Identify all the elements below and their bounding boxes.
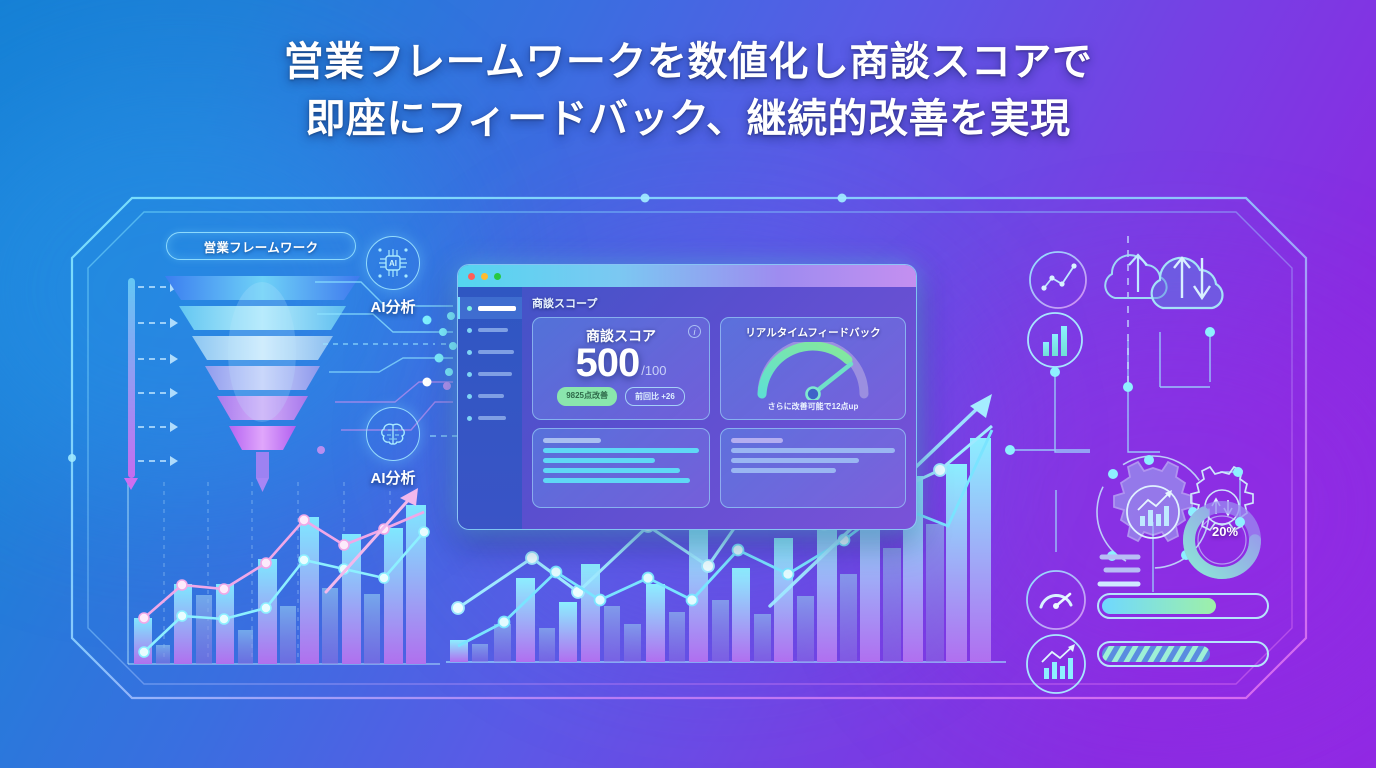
sidebar-bullet — [467, 306, 472, 311]
sidebar-label-bar — [478, 328, 508, 332]
ai-badge-chip: AI AI分析 — [350, 236, 436, 317]
brain-icon — [366, 407, 420, 461]
detail-card-2 — [720, 428, 906, 508]
score-badge-primary: 9825点改善 — [557, 387, 617, 406]
funnel-title-pill: 営業フレームワーク — [166, 232, 356, 260]
gauge-icon — [748, 342, 878, 400]
hud-node — [838, 194, 847, 203]
detail-line — [543, 478, 690, 483]
detail-line — [543, 458, 655, 463]
sidebar-bullet — [467, 416, 472, 421]
cloud-sync-icon — [1152, 258, 1223, 308]
sidebar-bullet — [467, 328, 472, 333]
dashboard-page-title: 商談スコープ — [532, 295, 906, 311]
menu-lines-icon — [1100, 557, 1138, 584]
svg-text:AI: AI — [389, 259, 397, 268]
funnel-stem — [256, 452, 269, 478]
sidebar-label-bar — [478, 416, 506, 420]
funnel-flow-bar — [128, 278, 135, 478]
hud-node — [68, 454, 76, 462]
sidebar-item-3[interactable] — [458, 341, 522, 363]
line-chart-circle-icon — [1030, 252, 1086, 308]
window-close-dot[interactable] — [468, 273, 475, 280]
sidebar-item-5[interactable] — [458, 385, 522, 407]
dashboard-window[interactable]: 商談スコープ i 商談スコア 500 /100 9825点改善 前回比 +26 — [457, 264, 917, 530]
sidebar-label-bar — [478, 306, 516, 311]
window-maximize-dot[interactable] — [494, 273, 501, 280]
window-minimize-dot[interactable] — [481, 273, 488, 280]
feedback-card: リアルタイムフィードバック さらに改善可能で12点up — [720, 317, 906, 420]
sidebar-item-4[interactable] — [458, 363, 522, 385]
sidebar-item-6[interactable] — [458, 407, 522, 429]
ai-badge-brain: AI分析 — [350, 407, 436, 488]
detail-line — [731, 448, 895, 453]
sidebar-item-2[interactable] — [458, 319, 522, 341]
sidebar-label-bar — [478, 394, 504, 398]
detail-card-1 — [532, 428, 710, 508]
detail-line — [543, 438, 601, 443]
sidebar-label-bar — [478, 350, 514, 354]
dashboard-sidebar — [458, 287, 522, 530]
sidebar-bullet — [467, 350, 472, 355]
donut-progress-icon — [1189, 507, 1255, 573]
feedback-card-title: リアルタイムフィードバック — [729, 325, 897, 340]
sidebar-item-1[interactable] — [458, 297, 522, 319]
ai-badge-label: AI分析 — [350, 296, 436, 317]
ai-badge-label: AI分析 — [350, 467, 436, 488]
bar-chart-circle-icon — [1028, 313, 1082, 367]
funnel-arrow-column — [120, 278, 162, 478]
detail-line — [731, 438, 783, 443]
ai-chip-icon: AI — [366, 236, 420, 290]
sidebar-label-bar — [478, 372, 512, 376]
page-title: 営業フレームワークを数値化し商談スコアで 即座にフィードバック、継続的改善を実現 — [0, 34, 1376, 148]
detail-line — [543, 468, 680, 473]
score-card: i 商談スコア 500 /100 9825点改善 前回比 +26 — [532, 317, 710, 420]
funnel-stage-6 — [229, 426, 296, 450]
detail-line — [543, 448, 699, 453]
title-line-2: 即座にフィードバック、継続的改善を実現 — [0, 91, 1376, 148]
progress-bar-solid — [1098, 594, 1268, 618]
feedback-card-caption: さらに改善可能で12点up — [729, 401, 897, 412]
right-icon-cluster — [1010, 222, 1310, 682]
sidebar-bullet — [467, 394, 472, 399]
window-titlebar — [458, 265, 916, 287]
hud-node — [641, 194, 650, 203]
donut-percent-label: 20% — [1212, 524, 1238, 539]
info-icon[interactable]: i — [688, 325, 701, 338]
progress-bar-striped — [1098, 642, 1268, 666]
sidebar-bullet — [467, 372, 472, 377]
detail-line — [731, 468, 836, 473]
title-line-1: 営業フレームワークを数値化し商談スコアで — [0, 34, 1376, 91]
detail-line — [731, 458, 859, 463]
funnel-tip — [256, 478, 269, 492]
left-bar-line-chart — [112, 472, 442, 672]
score-value: 500 — [575, 344, 639, 382]
score-max: /100 — [641, 363, 666, 378]
speedometer-icon — [1027, 571, 1085, 629]
score-badge-secondary: 前回比 +26 — [625, 387, 685, 406]
